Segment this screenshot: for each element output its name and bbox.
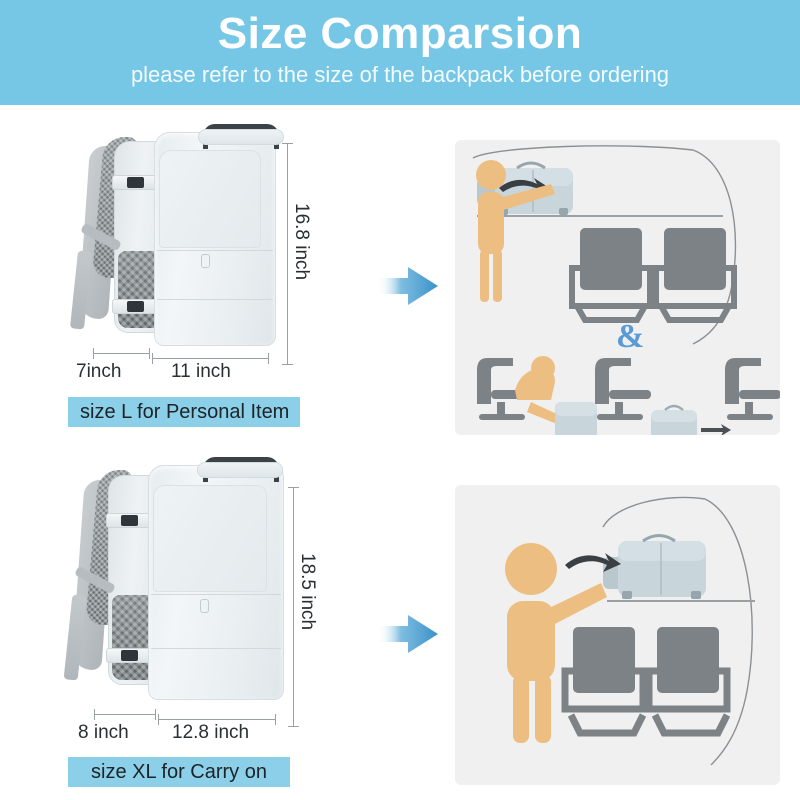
page-subtitle: please refer to the size of the backpack… bbox=[0, 60, 800, 88]
size-l-scene-panel bbox=[455, 140, 780, 435]
height-dimension-label: 16.8 inch bbox=[290, 203, 312, 280]
seam-upper bbox=[157, 250, 273, 251]
width-dimension-label: 11 inch bbox=[171, 361, 231, 383]
size-l-row: 16.8 inch 7inch 11 inch size L for Perso… bbox=[0, 105, 800, 445]
top-handle-cover bbox=[198, 129, 284, 145]
bag-body bbox=[154, 132, 276, 346]
size-xl-row: 18.5 inch 8 inch 12.8 inch size XL for C… bbox=[0, 445, 800, 800]
page-title: Size Comparsion bbox=[0, 0, 800, 60]
size-l-badge: size L for Personal Item bbox=[68, 397, 300, 427]
height-dimension-label: 18.5 inch bbox=[296, 553, 318, 630]
size-xl-product-column: 18.5 inch 8 inch 12.8 inch size XL for C… bbox=[0, 445, 370, 800]
size-l-product-column: 16.8 inch 7inch 11 inch size L for Perso… bbox=[0, 105, 370, 445]
seam-lower bbox=[157, 299, 273, 300]
zipper-pull bbox=[201, 254, 210, 268]
airplane-seat-icon bbox=[572, 228, 734, 320]
ampersand-symbol: & bbox=[616, 318, 644, 356]
buckle-bottom bbox=[112, 299, 158, 314]
backpack-icon bbox=[603, 536, 706, 600]
width-dimension-label: 12.8 inch bbox=[172, 722, 249, 744]
buckle-top bbox=[112, 175, 158, 190]
size-xl-scene-panel bbox=[455, 485, 780, 785]
front-pocket bbox=[153, 485, 267, 592]
arrow-right-icon bbox=[701, 424, 731, 435]
seam-lower bbox=[151, 648, 281, 649]
top-handle-cover bbox=[197, 462, 283, 478]
size-xl-badge: size XL for Carry on bbox=[68, 757, 290, 787]
airplane-seat-icon bbox=[565, 627, 727, 733]
arrow-right-icon bbox=[378, 265, 440, 307]
person-icon bbox=[515, 356, 561, 424]
airplane-seat-icon bbox=[725, 358, 780, 420]
airplane-seat-icon bbox=[595, 358, 651, 420]
backpack-icon bbox=[78, 123, 278, 351]
seam-upper bbox=[151, 594, 281, 595]
header-banner: Size Comparsion please refer to the size… bbox=[0, 0, 800, 105]
bag-body bbox=[148, 465, 284, 700]
backpack-icon bbox=[651, 406, 697, 435]
depth-dimension-label: 7inch bbox=[76, 361, 121, 383]
front-pocket bbox=[159, 150, 261, 248]
backpack-icon bbox=[555, 402, 597, 435]
depth-dimension-line bbox=[93, 348, 150, 358]
depth-dimension-label: 8 inch bbox=[78, 722, 129, 744]
depth-dimension-line bbox=[94, 709, 156, 719]
backpack-icon bbox=[72, 455, 286, 705]
arrow-right-icon bbox=[378, 613, 440, 655]
buckle-top bbox=[106, 513, 152, 528]
zipper-pull bbox=[200, 599, 209, 613]
under-seat-scene bbox=[477, 356, 780, 435]
infographic-page: Size Comparsion please refer to the size… bbox=[0, 0, 800, 800]
buckle-bottom bbox=[106, 648, 152, 663]
